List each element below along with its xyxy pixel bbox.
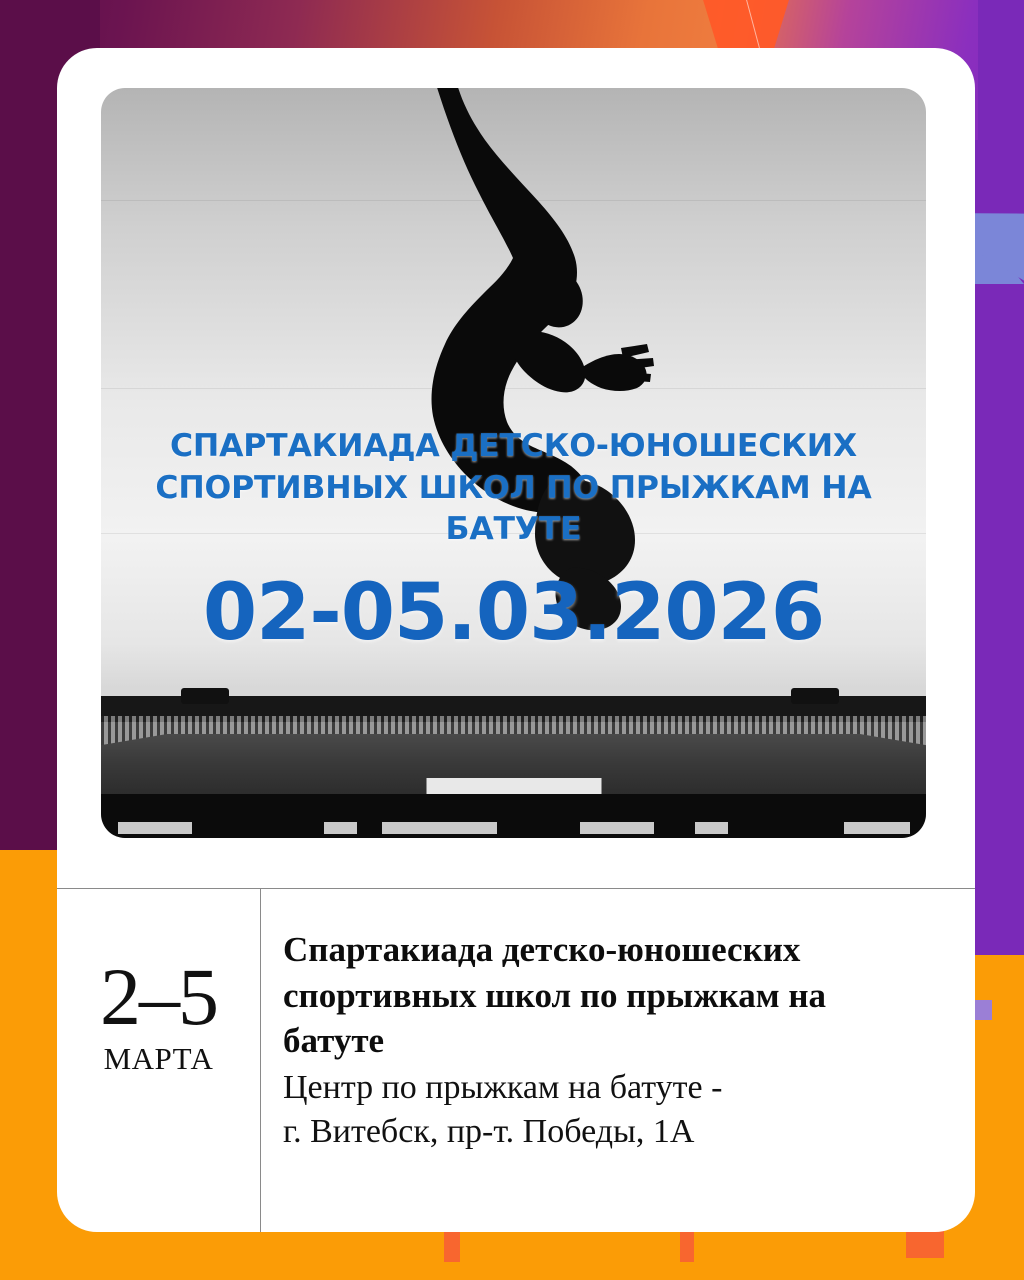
date-block: 2–5 МАРТА (57, 889, 260, 1232)
event-venue: Центр по прыжкам на батуте - г. Витебск,… (283, 1066, 935, 1154)
trampoline-graphic (101, 686, 926, 838)
base-highlight-2 (324, 822, 357, 834)
poster-title: СПАРТАКИАДА ДЕТСКО-ЮНОШЕСКИХ СПОРТИВНЫХ … (101, 426, 926, 551)
poster-date: 02-05.03.2026 (101, 568, 926, 658)
date-month: МАРТА (104, 1041, 214, 1077)
trampoline-clamp-right (791, 688, 839, 704)
trampoline-base (101, 794, 926, 838)
base-highlight-5 (695, 822, 728, 834)
base-highlight-3 (382, 822, 498, 834)
trampoline-clamp-left (181, 688, 229, 704)
event-venue-line1: Центр по прыжкам на батуте - (283, 1066, 935, 1110)
event-title: Спартакиада детско-юношеских спортивных … (283, 927, 935, 1064)
date-days: 2–5 (100, 958, 217, 1036)
poster-title-line2: СПОРТИВНЫХ ШКОЛ ПО ПРЫЖКАМ НА БАТУТЕ (101, 468, 926, 551)
event-details: Спартакиада детско-юношеских спортивных … (261, 889, 975, 1232)
base-highlight-4 (580, 822, 654, 834)
base-highlight-6 (844, 822, 910, 834)
event-poster-image[interactable]: СПАРТАКИАДА ДЕТСКО-ЮНОШЕСКИХ СПОРТИВНЫХ … (101, 88, 926, 838)
poster-title-line1: СПАРТАКИАДА ДЕТСКО-ЮНОШЕСКИХ (101, 426, 926, 468)
event-card[interactable]: СПАРТАКИАДА ДЕТСКО-ЮНОШЕСКИХ СПОРТИВНЫХ … (57, 48, 975, 1232)
base-highlight-1 (118, 822, 192, 834)
event-venue-line2: г. Витебск, пр-т. Победы, 1А (283, 1110, 935, 1154)
